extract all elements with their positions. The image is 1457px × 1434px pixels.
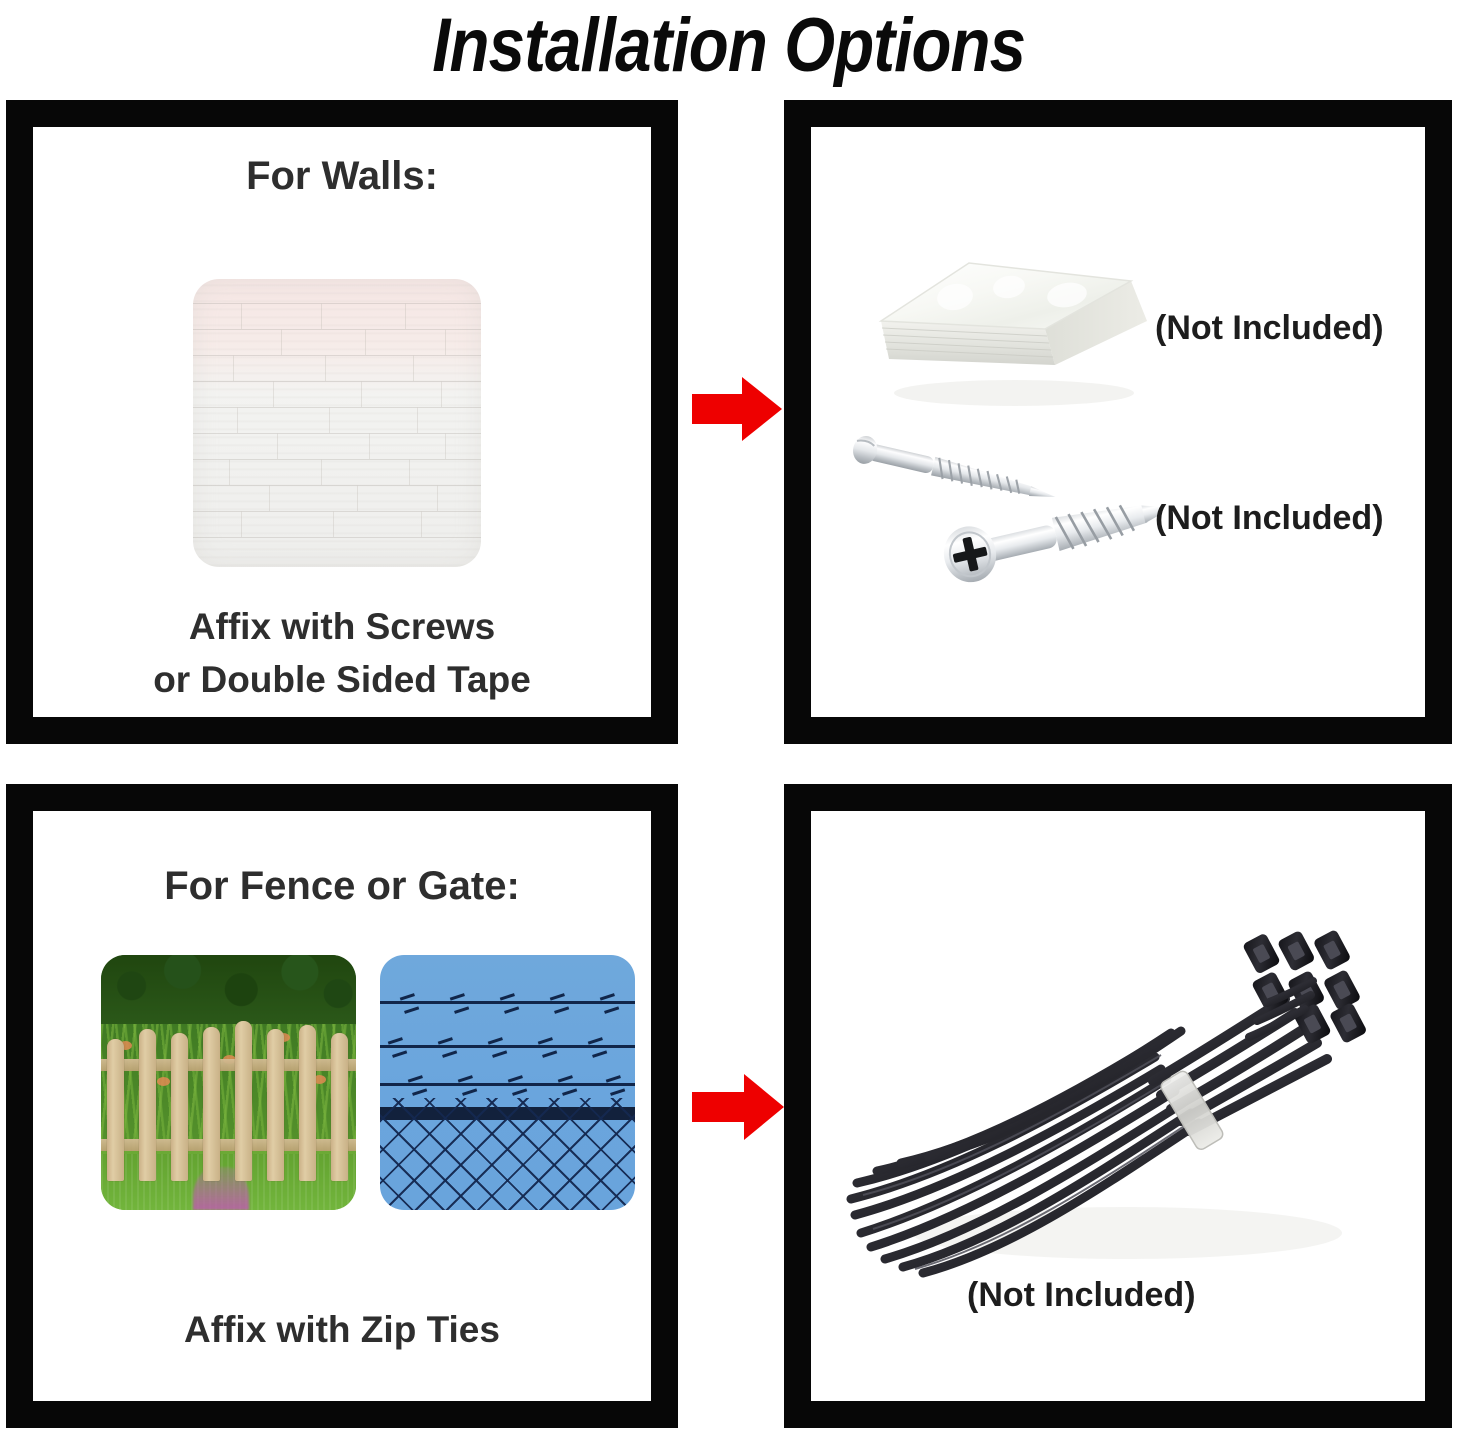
panel-for-fence-or-gate: For Fence or Gate: (6, 784, 678, 1428)
for-walls-caption-line-2: or Double Sided Tape (33, 653, 651, 706)
double-sided-tape-stack-photo (859, 235, 1159, 420)
ziptie-not-included-label: (Not Included) (967, 1276, 1196, 1314)
panel-fence-hardware: (Not Included) (784, 784, 1452, 1428)
title-bar: Installation Options (0, 0, 1457, 92)
brick-rows (193, 279, 481, 567)
red-right-arrow-fence (692, 1072, 786, 1142)
panel-for-walls: For Walls: (6, 100, 678, 744)
black-zip-tie-bundle-photo (837, 903, 1397, 1308)
panel-for-fence-content: For Fence or Gate: (33, 811, 651, 1401)
panel-fence-hardware-content: (Not Included) (811, 811, 1425, 1401)
chain-link-mesh (380, 1098, 635, 1210)
panel-for-walls-content: For Walls: (33, 127, 651, 717)
for-fence-caption: Affix with Zip Ties (33, 1303, 651, 1356)
for-walls-heading: For Walls: (33, 153, 651, 199)
tape-not-included-label: (Not Included) (1155, 309, 1384, 347)
panel-wall-hardware: (Not Included) (784, 100, 1452, 744)
for-fence-heading: For Fence or Gate: (33, 863, 651, 909)
for-walls-caption-line-1: Affix with Screws (33, 600, 651, 653)
white-brick-wall-photo (193, 279, 481, 567)
red-right-arrow-walls (692, 375, 784, 443)
chain-link-barbed-wire-fence-photo (380, 955, 635, 1210)
page-title: Installation Options (432, 8, 1025, 84)
panel-wall-hardware-content: (Not Included) (811, 127, 1425, 717)
hedge (101, 955, 356, 1032)
wooden-picket-fence-photo (101, 955, 356, 1210)
wood-screws-photo (831, 422, 1161, 627)
screws-not-included-label: (Not Included) (1155, 499, 1384, 537)
